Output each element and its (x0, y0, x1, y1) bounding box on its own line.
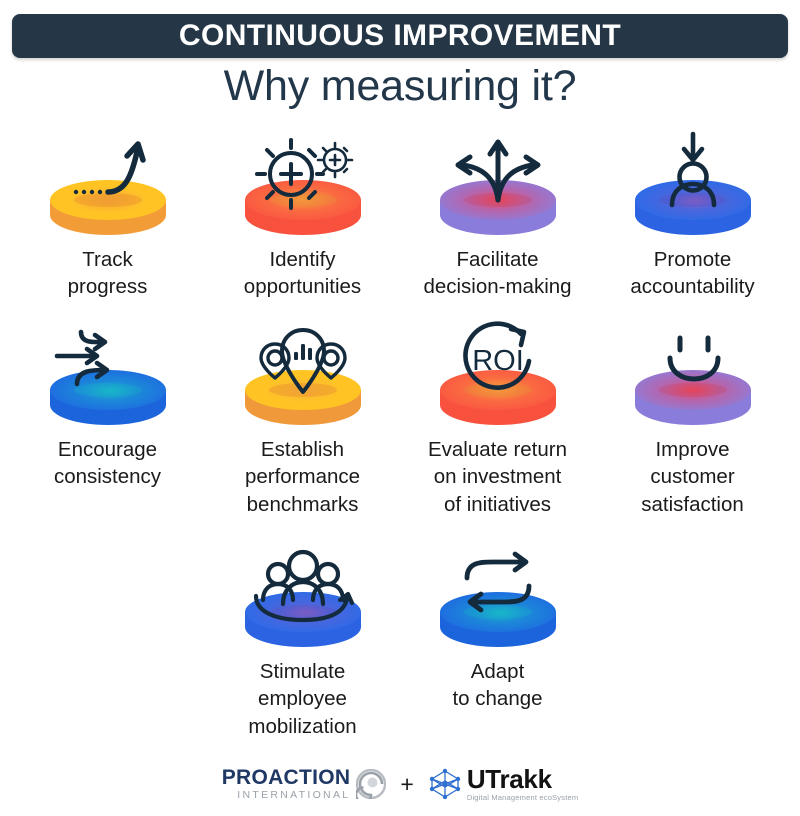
benefit-item-evaluate-roi: ROI Evaluate return on investment of ini… (400, 312, 595, 518)
benefit-item-adapt-to-change: Adapt to change (400, 534, 595, 713)
swap-loop-arrows-icon (423, 534, 573, 652)
benefit-label: Track progress (68, 246, 148, 301)
parallel-arrows-icon (33, 312, 183, 430)
roi-text: ROI (472, 345, 524, 377)
benefit-item-facilitate-decision-making: Facilitate decision-making (400, 122, 595, 301)
plus-separator: + (400, 771, 413, 798)
three-people-arc-icon (228, 534, 378, 652)
benefit-label: Stimulate employee mobilization (248, 658, 356, 740)
benefit-label: Identify opportunities (244, 246, 361, 301)
proaction-international-logo: PROACTION INTERNATIONAL (222, 767, 387, 801)
person-down-arrow-icon (618, 122, 768, 240)
benefit-item-stimulate-employee-mobilization: Stimulate employee mobilization (205, 534, 400, 740)
utrakk-network-icon (428, 767, 462, 801)
proaction-tagline: INTERNATIONAL (237, 790, 350, 801)
roi-circular-arrow-icon: ROI (423, 312, 573, 430)
benefits-row-2: Encourage consistency (0, 312, 800, 534)
utrakk-wordmark: UTrakk Digital Management ecoSystem (467, 766, 578, 802)
page-title: CONTINUOUS IMPROVEMENT (179, 19, 621, 53)
utrakk-logo: UTrakk Digital Management ecoSystem (428, 766, 578, 802)
benefit-label: Adapt to change (452, 658, 542, 713)
benefit-item-identify-opportunities: Identify opportunities (205, 122, 400, 301)
benefit-label: Promote accountability (630, 246, 754, 301)
utrakk-name: UTrakk (467, 766, 552, 792)
benefits-row-1: Track progress (0, 122, 800, 312)
proaction-wordmark: PROACTION INTERNATIONAL (222, 767, 351, 801)
benefit-label: Evaluate return on investment of initiat… (428, 436, 567, 518)
proaction-swirl-icon (356, 769, 386, 799)
lightbulb-plus-rays-icon (228, 122, 378, 240)
page-subtitle: Why measuring it? (0, 62, 800, 111)
benefit-label: Encourage consistency (54, 436, 161, 491)
proaction-name: PROACTION (222, 767, 351, 788)
smiley-face-icon (618, 312, 768, 430)
utrakk-tagline: Digital Management ecoSystem (467, 794, 578, 802)
benefit-item-improve-customer-satisfaction: Improve customer satisfaction (595, 312, 790, 518)
three-way-arrows-icon (423, 122, 573, 240)
benefit-item-track-progress: Track progress (10, 122, 205, 301)
benefit-label: Improve customer satisfaction (641, 436, 744, 518)
benefit-item-promote-accountability: Promote accountability (595, 122, 790, 301)
dotted-arrow-up-icon (33, 122, 183, 240)
benefit-item-establish-performance-benchmarks: Establish performance benchmarks (205, 312, 400, 518)
benefits-grid: Track progress (0, 122, 800, 734)
map-pins-chart-icon (228, 312, 378, 430)
banner-title-bar: CONTINUOUS IMPROVEMENT (12, 14, 788, 58)
benefit-item-encourage-consistency: Encourage consistency (10, 312, 205, 491)
benefits-row-3: Stimulate employee mobilization (0, 534, 800, 734)
benefit-label: Facilitate decision-making (423, 246, 571, 301)
benefit-label: Establish performance benchmarks (245, 436, 360, 518)
footer-logos: PROACTION INTERNATIONAL + (0, 758, 800, 810)
